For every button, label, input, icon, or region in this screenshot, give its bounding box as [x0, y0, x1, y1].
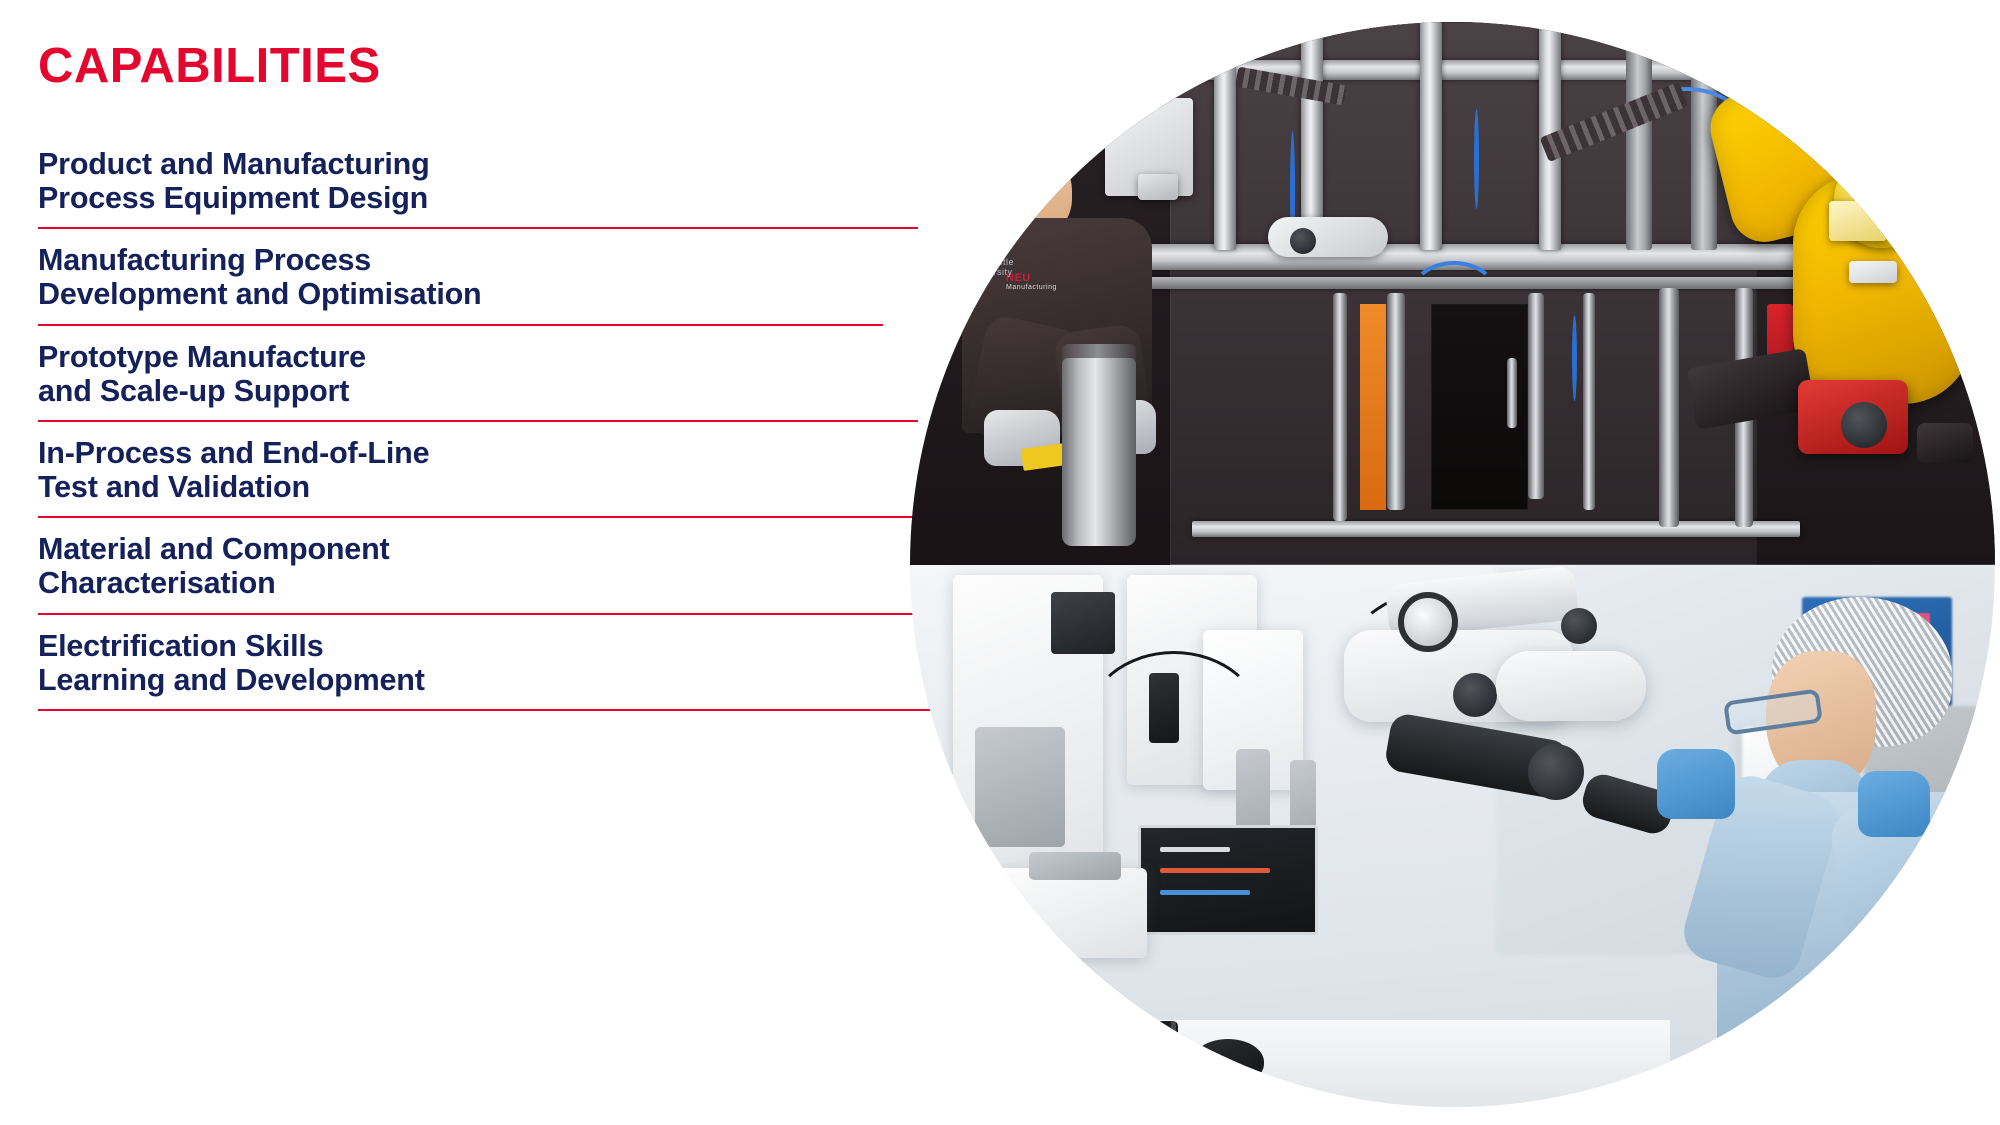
capability-label: Material and Component Characterisation [38, 518, 1000, 612]
capability-label: Product and Manufacturing Process Equipm… [38, 133, 1000, 227]
capabilities-panel: CAPABILITIES Product and Manufacturing P… [0, 0, 1000, 1125]
capability-label: Electrification Skills Learning and Deve… [38, 615, 1000, 709]
list-item: Prototype Manufacture and Scale-up Suppo… [38, 326, 1000, 422]
list-item: Electrification Skills Learning and Deve… [38, 615, 1000, 711]
photo-manufacturing-automation-cell: NEU Manufacturing NewcastleUniversity [910, 22, 1995, 565]
capability-list: Product and Manufacturing Process Equipm… [38, 133, 1000, 711]
slide-root: CAPABILITIES Product and Manufacturing P… [0, 0, 2000, 1125]
capability-label: In-Process and End-of-Line Test and Vali… [38, 422, 1000, 516]
list-item: Material and Component Characterisation [38, 518, 1000, 614]
photo-cleanroom-microscope-inspection [910, 565, 1995, 1108]
photo-montage-circle: NEU Manufacturing NewcastleUniversity [910, 22, 1995, 1107]
capability-label: Manufacturing Process Development and Op… [38, 229, 1000, 323]
list-item: Product and Manufacturing Process Equipm… [38, 133, 1000, 229]
page-title: CAPABILITIES [38, 42, 1000, 91]
list-item: In-Process and End-of-Line Test and Vali… [38, 422, 1000, 518]
list-item: Manufacturing Process Development and Op… [38, 229, 1000, 325]
capability-label: Prototype Manufacture and Scale-up Suppo… [38, 326, 1000, 420]
